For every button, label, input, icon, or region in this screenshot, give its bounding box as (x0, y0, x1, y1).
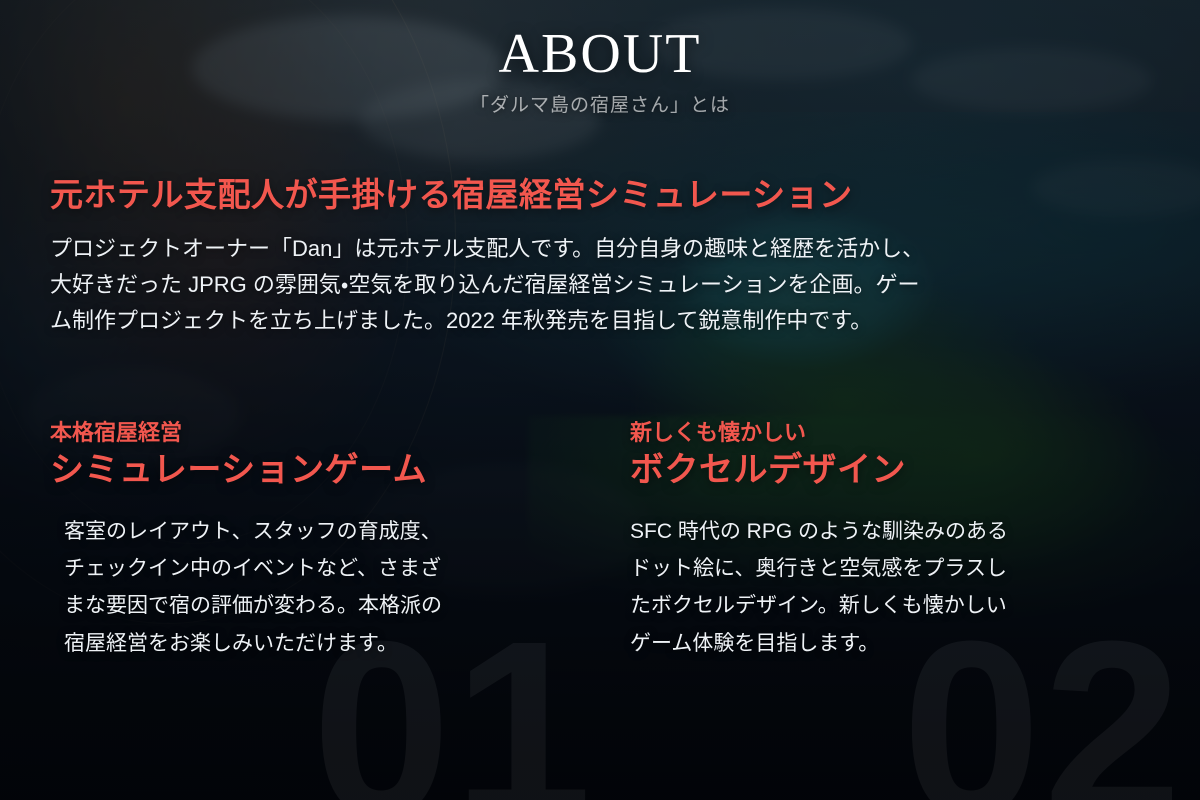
feature-body-line: まな要因で宿の評価が変わる。本格派の (64, 587, 570, 624)
feature-eyebrow: 新しくも懐かしい (630, 420, 1150, 446)
lede-body: プロジェクトオーナー「Dan」は元ホテル支配人です。自分自身の趣味と経歴を活かし… (50, 231, 1098, 338)
lede-body-line: ム制作プロジェクトを立ち上げました。2022 年秋発売を目指して鋭意制作中です。 (50, 303, 1098, 339)
feature-body: SFC 時代の RPG のような馴染みのある ドット絵に、奥行きと空気感をプラス… (630, 513, 1150, 663)
feature-body-line: 宿屋経営をお楽しみいただけます。 (64, 625, 570, 662)
feature-title: ボクセルデザイン (630, 450, 1150, 490)
feature-body: 客室のレイアウト、スタッフの育成度、 チェックイン中のイベントなど、さまざ まな… (50, 513, 570, 663)
section-header: ABOUT 「ダルマ島の宿屋さん」とは (0, 0, 1200, 117)
lede-block: 元ホテル支配人が手掛ける宿屋経営シミュレーション プロジェクトオーナー「Dan」… (50, 174, 1098, 338)
feature-title: シミュレーションゲーム (50, 450, 570, 490)
page-title: ABOUT (0, 26, 1200, 82)
feature-column-02: 新しくも懐かしい ボクセルデザイン SFC 時代の RPG のような馴染みのある… (630, 420, 1150, 662)
lede-body-line: プロジェクトオーナー「Dan」は元ホテル支配人です。自分自身の趣味と経歴を活かし… (50, 231, 1098, 267)
about-section: 01 02 ABOUT 「ダルマ島の宿屋さん」とは 元ホテル支配人が手掛ける宿屋… (0, 0, 1200, 800)
page-subtitle: 「ダルマ島の宿屋さん」とは (0, 90, 1200, 117)
feature-body-line: SFC 時代の RPG のような馴染みのある (630, 513, 1150, 550)
lede-heading: 元ホテル支配人が手掛ける宿屋経営シミュレーション (50, 174, 1098, 215)
feature-body-line: ドット絵に、奥行きと空気感をプラスし (630, 550, 1150, 587)
feature-body-line: 客室のレイアウト、スタッフの育成度、 (64, 513, 570, 550)
feature-body-line: チェックイン中のイベントなど、さまざ (64, 550, 570, 587)
feature-body-line: たボクセルデザイン。新しくも懐かしい (630, 587, 1150, 624)
feature-columns: 本格宿屋経営 シミュレーションゲーム 客室のレイアウト、スタッフの育成度、 チェ… (50, 420, 1150, 662)
feature-body-line: ゲーム体験を目指します。 (630, 625, 1150, 662)
feature-eyebrow: 本格宿屋経営 (50, 420, 570, 446)
feature-column-01: 本格宿屋経営 シミュレーションゲーム 客室のレイアウト、スタッフの育成度、 チェ… (50, 420, 570, 662)
lede-body-line: 大好きだった JPRG の雰囲気・空気を取り込んだ宿屋経営シミュレーションを企画… (50, 267, 1098, 303)
